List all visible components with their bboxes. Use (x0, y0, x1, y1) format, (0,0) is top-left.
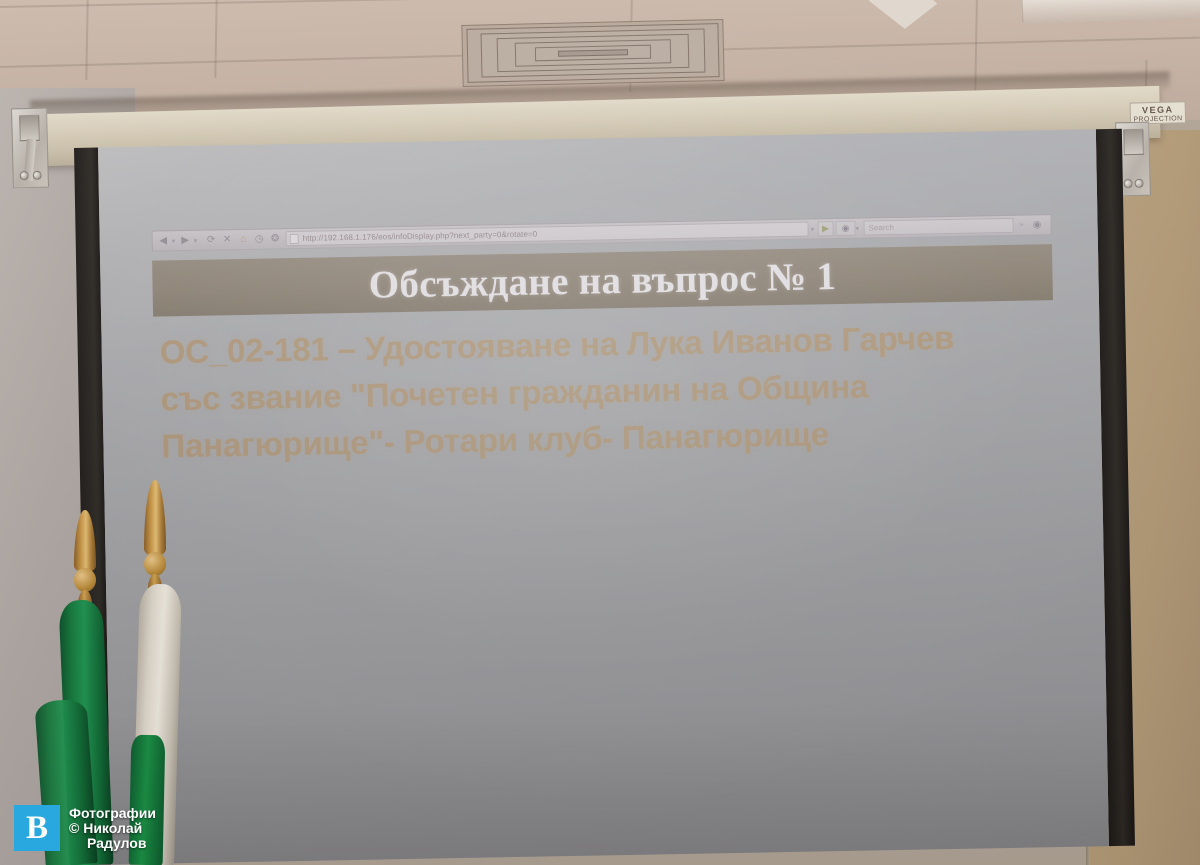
bracket-bolt (1134, 179, 1143, 188)
screen-surface: ◀ ▾ ▶ ▾ ⟳ ✕ ⌂ ◷ ❂ http://192.168.1.176/e… (98, 129, 1109, 864)
watermark-text: Фотографии © Николай Радулов (69, 806, 156, 851)
air-diffuser-vent (461, 19, 724, 87)
bracket-bolt (33, 171, 42, 180)
flag-finial-ball (74, 568, 96, 592)
search-input[interactable]: Search (863, 218, 1013, 236)
projection-screen: ◀ ▾ ▶ ▾ ⟳ ✕ ⌂ ◷ ❂ http://192.168.1.176/e… (74, 129, 1135, 865)
watermark-line-3: Радулов (69, 836, 156, 851)
ceiling-grid-line (214, 0, 217, 78)
forward-arrow-icon[interactable]: ▶ (178, 233, 193, 248)
page-favicon-icon (290, 233, 299, 243)
address-dropdown-chevron-icon[interactable]: ▾ (811, 225, 817, 233)
address-bar-url: http://192.168.1.176/eos/infoDisplay.php… (303, 230, 538, 243)
wall-bracket-left (11, 108, 49, 189)
screen-brand-name: VEGA (1131, 105, 1185, 115)
browser-window: ◀ ▾ ▶ ▾ ⟳ ✕ ⌂ ◷ ❂ http://192.168.1.176/e… (152, 214, 1062, 790)
toolbar-extra-icon[interactable]: ◉ (1029, 217, 1044, 232)
ceiling-light-fixture (1022, 0, 1200, 23)
bracket-slot (1123, 129, 1144, 155)
watermark: В Фотографии © Николай Радулов (14, 805, 156, 851)
toolbar-overflow-chevron-icon[interactable]: » (1020, 222, 1026, 229)
bracket-slot (19, 115, 40, 141)
page-body: ОС_02-181 – Удостояване на Лука Иванов Г… (153, 300, 1056, 469)
photo-scene: VEGA PROJECTION ◀ ▾ ▶ ▾ ⟳ (0, 0, 1200, 865)
bookmarks-icon[interactable]: ❂ (268, 231, 283, 246)
ceiling-light-corner (869, 0, 938, 29)
stop-icon[interactable]: ✕ (220, 232, 235, 247)
bracket-bolt (1123, 179, 1132, 188)
ceiling-grid-line (0, 0, 1200, 8)
watermark-line-1: Фотографии (69, 806, 156, 821)
address-bar[interactable]: http://192.168.1.176/eos/infoDisplay.php… (286, 222, 809, 247)
search-engine-selector[interactable]: ◉ (835, 221, 855, 236)
watermark-logo: В (14, 805, 60, 851)
page-content: Обсъждане на въпрос № 1 ОС_02-181 – Удос… (152, 244, 1056, 469)
back-arrow-icon[interactable]: ◀ (156, 233, 171, 248)
go-button[interactable]: ▶ (817, 221, 833, 236)
watermark-line-2: © Николай (69, 821, 156, 836)
home-icon[interactable]: ⌂ (236, 232, 251, 247)
ceiling-grid-line (85, 0, 88, 80)
search-engine-chevron-icon[interactable]: ▾ (856, 224, 862, 232)
reload-icon[interactable]: ⟳ (204, 232, 219, 247)
flag-finial-spear (74, 510, 96, 572)
forward-history-chevron-icon[interactable]: ▾ (194, 236, 200, 244)
history-icon[interactable]: ◷ (252, 231, 267, 246)
